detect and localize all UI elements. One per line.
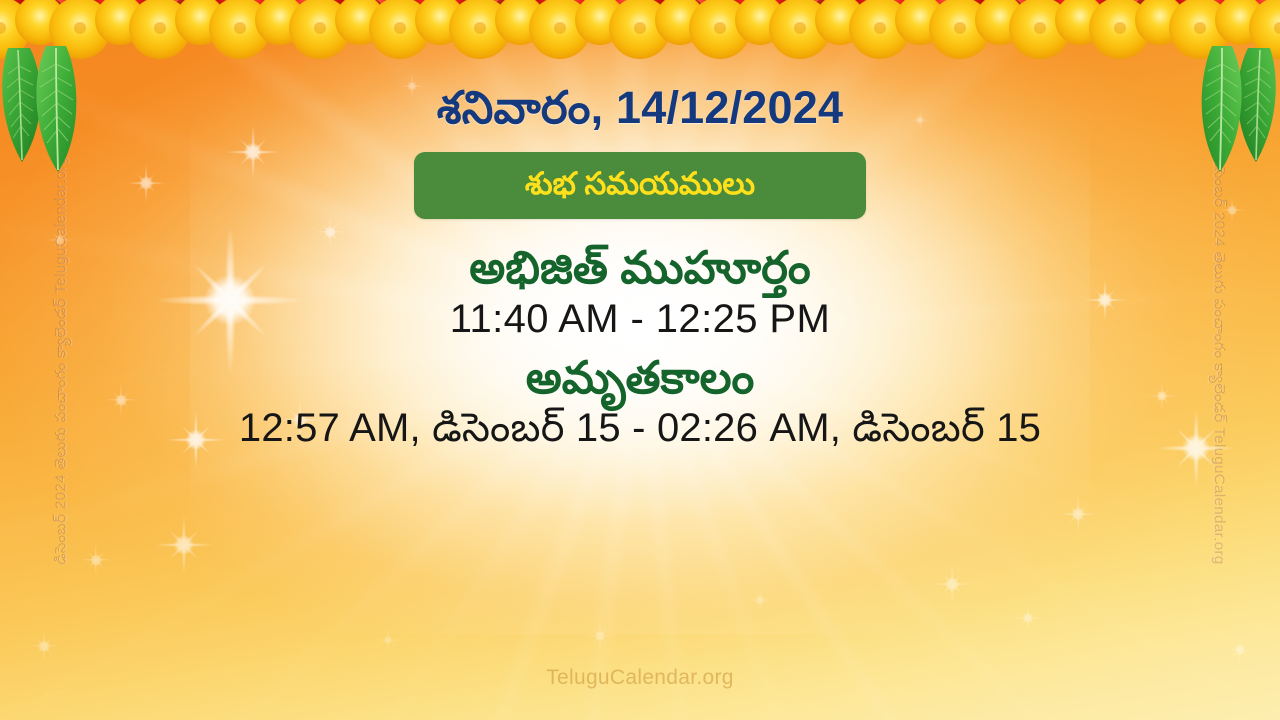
status-badge: శుభ సమయములు xyxy=(414,152,866,219)
abhijit-muhurtam-time: 11:40 AM - 12:25 PM xyxy=(450,297,830,341)
amrita-kalam-time: 12:57 AM, డిసెంబర్ 15 - 02:26 AM, డిసెంబ… xyxy=(239,406,1041,450)
abhijit-muhurtam-title: అభిజిత్ ముహూర్తం xyxy=(469,243,810,293)
page-title: శనివారం, 14/12/2024 xyxy=(437,84,843,131)
amrita-kalam-title: అమృతకాలం xyxy=(526,353,755,403)
calendar-card-canvas: డిసెంబర్ 2024 తెలుగు పంచాంగం క్యాలెండర్ … xyxy=(0,0,1280,720)
status-badge-label: శుభ సమయములు xyxy=(525,168,755,203)
card-content: శనివారం, 14/12/2024 శుభ సమయములు అభిజిత్ … xyxy=(0,0,1280,720)
